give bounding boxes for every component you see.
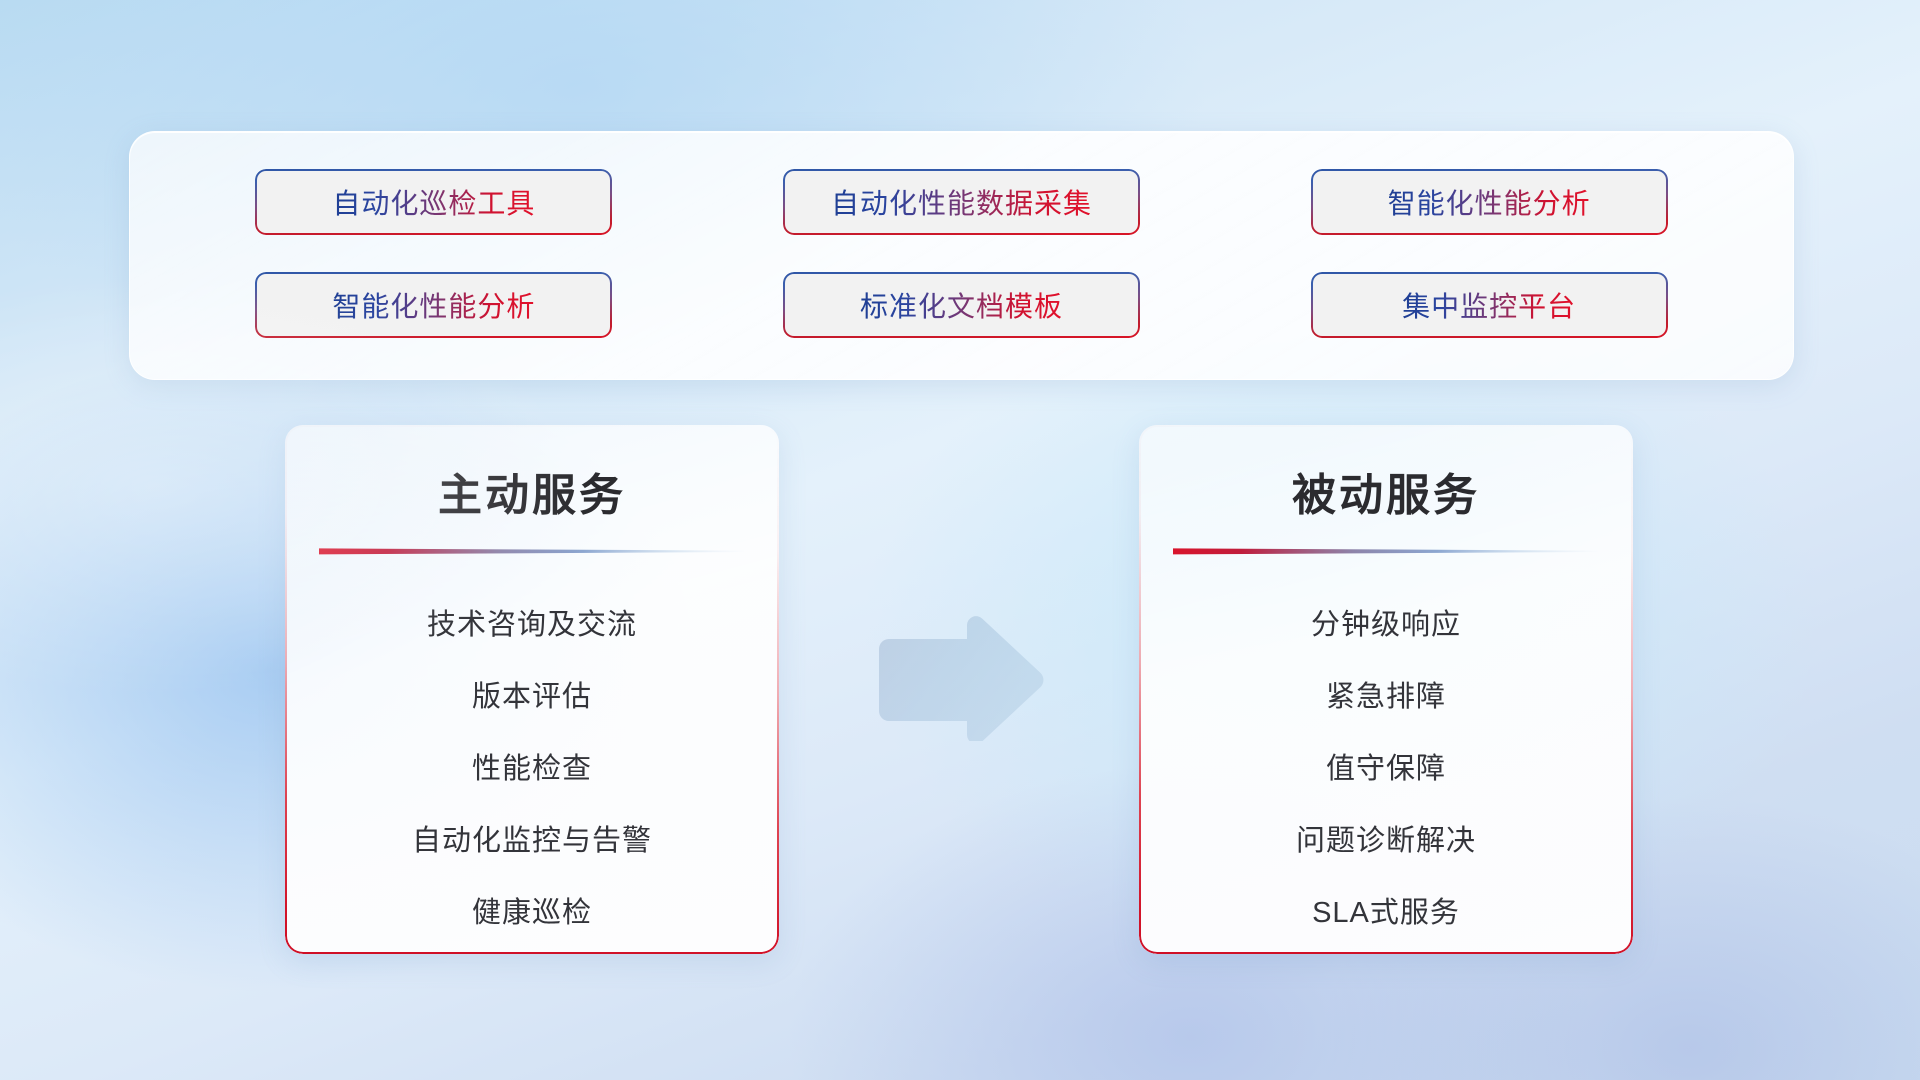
capability-tag-label: 自动化巡检工具 (332, 182, 535, 222)
card-title: 被动服务 (1165, 459, 1607, 523)
title-divider (1173, 547, 1600, 555)
capability-tag[interactable]: 集中监控平台 (1311, 272, 1668, 338)
service-item[interactable]: 版本评估 (311, 661, 753, 733)
service-item[interactable]: 健康巡检 (311, 877, 753, 949)
capability-tag-label: 标准化文档模板 (860, 285, 1063, 325)
service-item-list: 技术咨询及交流 版本评估 性能检查 自动化监控与告警 健康巡检 (311, 589, 753, 949)
capability-tag[interactable]: 自动化性能数据采集 (783, 169, 1140, 235)
card-title: 主动服务 (311, 459, 753, 523)
service-item[interactable]: 紧急排障 (1165, 661, 1607, 733)
service-item-list: 分钟级响应 紧急排障 值守保障 问题诊断解决 SLA式服务 (1165, 589, 1607, 949)
right-arrow-icon (869, 611, 1049, 741)
service-item[interactable]: 问题诊断解决 (1165, 805, 1607, 877)
service-item[interactable]: 自动化监控与告警 (311, 805, 753, 877)
capability-tag[interactable]: 智能化性能分析 (255, 272, 612, 338)
service-item[interactable]: 值守保障 (1165, 733, 1607, 805)
service-item[interactable]: 技术咨询及交流 (311, 589, 753, 661)
service-item[interactable]: 性能检查 (311, 733, 753, 805)
capability-tag[interactable]: 标准化文档模板 (783, 272, 1140, 338)
title-divider (319, 547, 746, 555)
capability-tag-label: 智能化性能分析 (1388, 182, 1591, 222)
capability-tag-panel: 自动化巡检工具 自动化性能数据采集 智能化性能分析 智能化性能分析 标准化文档模… (129, 131, 1794, 380)
capability-tag[interactable]: 智能化性能分析 (1311, 169, 1668, 235)
capability-tag-label: 集中监控平台 (1402, 285, 1576, 325)
capability-tag-label: 自动化性能数据采集 (831, 182, 1092, 222)
service-card-active[interactable]: 主动服务 技术咨询及交流 版本评估 性能检查 (285, 425, 779, 954)
capability-tag[interactable]: 自动化巡检工具 (255, 169, 612, 235)
capability-tag-label: 智能化性能分析 (332, 285, 535, 325)
service-item[interactable]: 分钟级响应 (1165, 589, 1607, 661)
slide-canvas: 自动化巡检工具 自动化性能数据采集 智能化性能分析 智能化性能分析 标准化文档模… (0, 0, 1920, 1080)
service-card-passive[interactable]: 被动服务 分钟级响应 紧急排障 值守保障 (1139, 425, 1633, 954)
service-item[interactable]: SLA式服务 (1165, 877, 1607, 949)
